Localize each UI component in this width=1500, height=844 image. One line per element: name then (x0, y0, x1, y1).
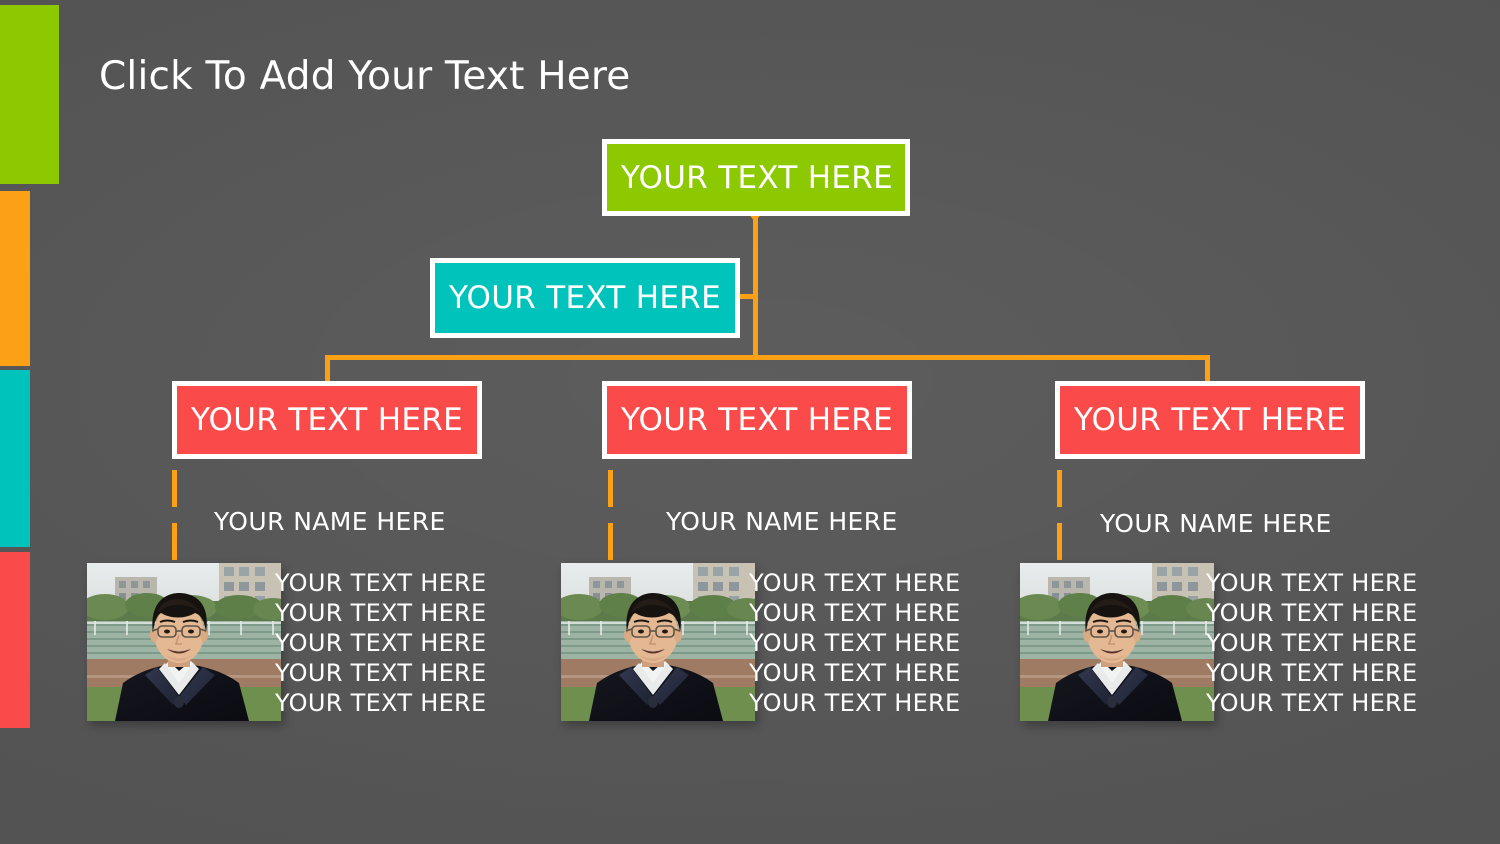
person-photo-1[interactable] (87, 563, 281, 721)
person-name-1[interactable]: YOUR NAME HERE (214, 507, 446, 536)
org-node-child-2-label: YOUR TEXT HERE (621, 402, 893, 438)
dash-segment (608, 523, 613, 560)
org-node-root-label: YOUR TEXT HERE (621, 160, 893, 196)
person-text-line: YOUR TEXT HERE (749, 688, 961, 718)
person-text-line: YOUR TEXT HERE (749, 628, 961, 658)
person-text-line: YOUR TEXT HERE (275, 688, 487, 718)
person-text-line: YOUR TEXT HERE (275, 568, 487, 598)
person-name-3[interactable]: YOUR NAME HERE (1100, 509, 1332, 538)
dash-segment (172, 470, 177, 507)
dash-segment (1057, 523, 1062, 560)
person-photo-3[interactable] (1020, 563, 1214, 721)
connector-horizontal-bus (325, 355, 1210, 360)
org-node-root[interactable]: YOUR TEXT HERE (602, 139, 910, 216)
accent-bar-green (0, 5, 59, 184)
dash-segment (608, 470, 613, 507)
org-node-child-3-label: YOUR TEXT HERE (1074, 402, 1346, 438)
person-text-lines-3[interactable]: YOUR TEXT HEREYOUR TEXT HEREYOUR TEXT HE… (1206, 568, 1418, 718)
org-node-child-1[interactable]: YOUR TEXT HERE (172, 381, 482, 459)
dashed-connector-3 (1057, 470, 1062, 560)
person-text-line: YOUR TEXT HERE (749, 658, 961, 688)
person-text-line: YOUR TEXT HERE (275, 598, 487, 628)
connector-drop-right (1205, 355, 1210, 383)
graduate-portrait-image (1020, 563, 1214, 721)
person-text-line: YOUR TEXT HERE (1206, 568, 1418, 598)
accent-bar-orange (0, 191, 30, 366)
page-title[interactable]: Click To Add Your Text Here (99, 54, 631, 99)
dash-segment (1057, 470, 1062, 507)
dashed-connector-1 (172, 470, 177, 560)
person-text-line: YOUR TEXT HERE (1206, 658, 1418, 688)
person-text-line: YOUR TEXT HERE (275, 628, 487, 658)
person-text-line: YOUR TEXT HERE (1206, 598, 1418, 628)
accent-bar-teal (0, 370, 30, 547)
connector-root-vertical (753, 213, 758, 358)
slide-canvas: Click To Add Your Text Here YOUR TEXT HE… (0, 0, 1500, 844)
connector-drop-left (325, 355, 330, 383)
person-text-line: YOUR TEXT HERE (1206, 688, 1418, 718)
person-name-2[interactable]: YOUR NAME HERE (666, 507, 898, 536)
person-text-lines-2[interactable]: YOUR TEXT HEREYOUR TEXT HEREYOUR TEXT HE… (749, 568, 961, 718)
person-text-line: YOUR TEXT HERE (1206, 628, 1418, 658)
org-node-assistant[interactable]: YOUR TEXT HERE (430, 258, 740, 338)
graduate-portrait-image (561, 563, 755, 721)
person-text-line: YOUR TEXT HERE (275, 658, 487, 688)
dash-segment (172, 523, 177, 560)
person-text-line: YOUR TEXT HERE (749, 598, 961, 628)
person-photo-2[interactable] (561, 563, 755, 721)
accent-bar-red (0, 552, 30, 728)
person-text-lines-1[interactable]: YOUR TEXT HEREYOUR TEXT HEREYOUR TEXT HE… (275, 568, 487, 718)
graduate-portrait-image (87, 563, 281, 721)
person-text-line: YOUR TEXT HERE (749, 568, 961, 598)
org-node-child-3[interactable]: YOUR TEXT HERE (1055, 381, 1365, 459)
dashed-connector-2 (608, 470, 613, 560)
org-node-assistant-label: YOUR TEXT HERE (449, 280, 721, 316)
org-node-child-1-label: YOUR TEXT HERE (191, 402, 463, 438)
org-node-child-2[interactable]: YOUR TEXT HERE (602, 381, 912, 459)
